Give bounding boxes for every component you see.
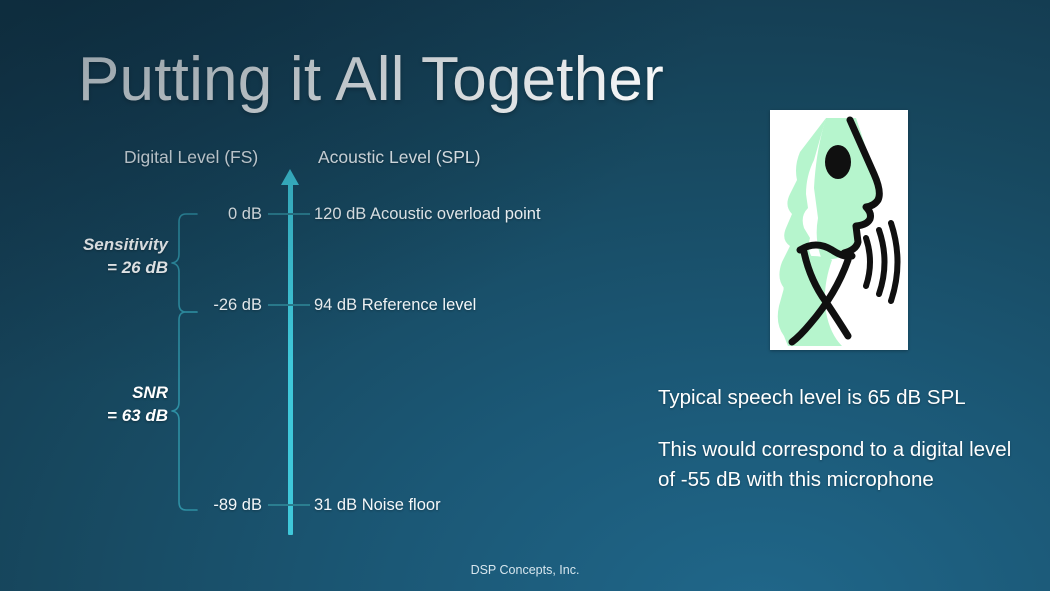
page-title: Putting it All Together (78, 44, 664, 115)
brace-label-sensitivity: Sensitivity = 26 dB (28, 234, 168, 280)
speaking-face-image (770, 110, 908, 350)
brace-snr-value: = 63 dB (28, 405, 168, 428)
note-digital-level: This would correspond to a digital level… (658, 435, 1018, 494)
slide-canvas: Putting it All Together Digital Level (F… (0, 0, 1050, 591)
brace-label-snr: SNR = 63 dB (28, 382, 168, 428)
brace-snr-name: SNR (28, 382, 168, 405)
tick-mark-minus89db (268, 504, 310, 506)
acoustic-level-1: 94 dB Reference level (314, 296, 476, 315)
acoustic-level-0: 120 dB Acoustic overload point (314, 205, 541, 224)
brace-sensitivity (170, 212, 200, 314)
tick-mark-0db (268, 213, 310, 215)
brace-sensitivity-name: Sensitivity (28, 234, 168, 257)
column-header-acoustic: Acoustic Level (SPL) (318, 147, 480, 168)
acoustic-level-2: 31 dB Noise floor (314, 496, 441, 515)
level-axis (288, 183, 293, 535)
column-header-digital: Digital Level (FS) (124, 147, 258, 168)
footer-credit: DSP Concepts, Inc. (0, 563, 1050, 577)
note-speech-level: Typical speech level is 65 dB SPL (658, 383, 966, 413)
brace-sensitivity-value: = 26 dB (28, 257, 168, 280)
speaking-face-icon (770, 110, 908, 350)
brace-snr (170, 310, 200, 512)
tick-mark-minus26db (268, 304, 310, 306)
